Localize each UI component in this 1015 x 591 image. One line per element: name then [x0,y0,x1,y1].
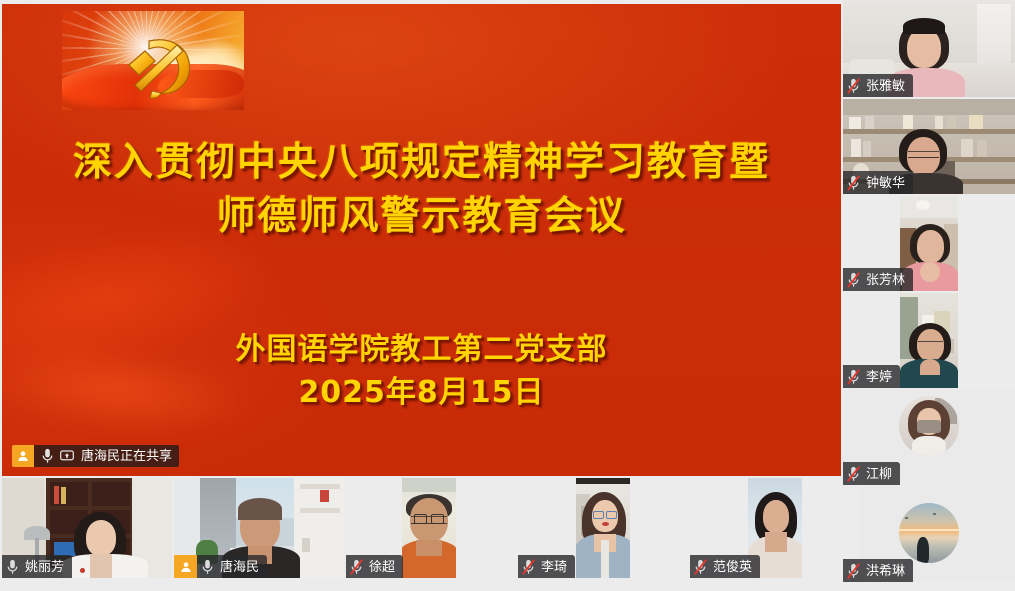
party-emblem-banner-image [62,11,244,110]
share-status-bar: 唐海民正在共享 [12,445,179,467]
participant-name: 姚丽芳 [23,555,72,578]
hammer-sickle-icon [119,25,203,101]
person-icon [12,445,34,467]
participant-tile[interactable]: 徐超 [346,478,516,578]
participant-tile[interactable]: 钟敏华 [843,99,1015,194]
participant-tile[interactable]: 江柳 [843,390,1015,485]
participant-name: 唐海民 [218,555,267,578]
participant-nameplate: 李婷 [843,365,900,388]
participant-tile[interactable]: 张芳林 [843,196,1015,291]
participant-filmstrip[interactable]: 姚丽芳 [0,478,843,591]
participant-sidebar[interactable]: 张雅敏 [843,0,1015,591]
participant-nameplate: 江柳 [843,462,900,485]
participant-name: 范俊英 [711,555,760,578]
participant-name: 张芳林 [864,268,913,291]
participant-tile[interactable]: 洪希琳 [843,487,1015,582]
participant-tile[interactable]: 李琦 [518,478,688,578]
participant-name: 张雅敏 [864,74,913,97]
avatar [899,503,959,563]
microphone-muted-icon [518,555,539,578]
microphone-muted-icon [690,555,711,578]
participant-name: 洪希琳 [864,559,913,582]
microphone-icon [197,555,218,578]
participant-nameplate: 李琦 [518,555,575,578]
microphone-muted-icon [346,555,367,578]
participant-nameplate: 徐超 [346,555,403,578]
participant-nameplate: 范俊英 [690,555,760,578]
slide-title-line-1: 深入贯彻中央八项规定精神学习教育暨 [2,131,841,187]
microphone-icon [2,555,23,578]
participant-tile[interactable]: 姚丽芳 [2,478,172,578]
screen-share-icon [57,450,77,462]
participant-tile[interactable]: 唐海民 [174,478,344,578]
shared-screen-stage[interactable]: 深入贯彻中央八项规定精神学习教育暨 师德师风警示教育会议 外国语学院教工第二党支… [2,4,841,476]
slide-organization: 外国语学院教工第二党支部 [2,324,841,368]
participant-tile[interactable]: 范俊英 [690,478,860,578]
participant-nameplate: 洪希琳 [843,559,913,582]
participant-name: 钟敏华 [864,171,913,194]
person-icon [174,555,197,578]
slide-date: 2025年8月15日 [2,367,841,411]
slide-title-line-2: 师德师风警示教育会议 [2,185,841,241]
participant-name: 江柳 [864,462,900,485]
participant-tile[interactable]: 李婷 [843,293,1015,388]
microphone-muted-icon [843,171,864,194]
microphone-icon [37,448,57,464]
participant-nameplate: 张雅敏 [843,74,913,97]
microphone-muted-icon [843,365,864,388]
participant-name: 徐超 [367,555,403,578]
participant-tile[interactable]: 张雅敏 [843,0,1015,97]
participant-nameplate: 唐海民 [174,555,267,578]
share-status-label: 唐海民正在共享 [77,445,179,467]
participant-name: 李婷 [864,365,900,388]
microphone-muted-icon [843,462,864,485]
participant-nameplate: 姚丽芳 [2,555,72,578]
microphone-muted-icon [843,74,864,97]
participant-nameplate: 张芳林 [843,268,913,291]
meeting-window: 深入贯彻中央八项规定精神学习教育暨 师德师风警示教育会议 外国语学院教工第二党支… [0,0,1015,591]
microphone-muted-icon [843,559,864,582]
participant-nameplate: 钟敏华 [843,171,913,194]
microphone-muted-icon [843,268,864,291]
avatar [899,396,959,456]
participant-name: 李琦 [539,555,575,578]
